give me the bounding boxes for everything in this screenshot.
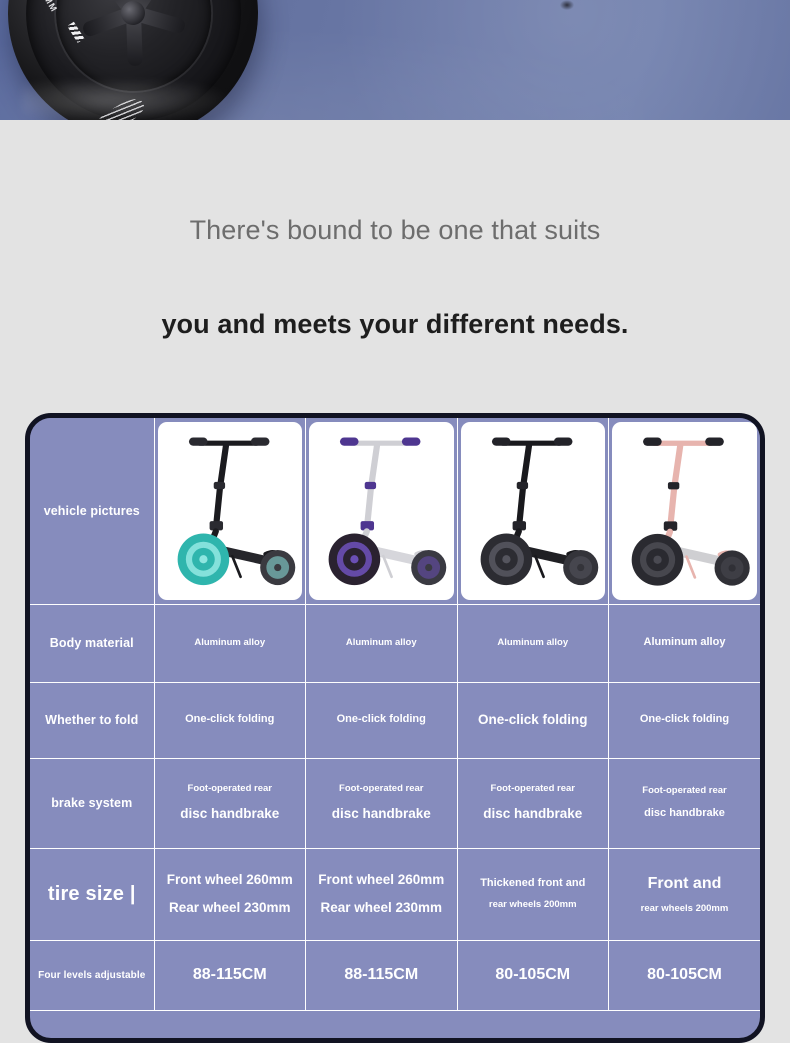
spec-text: Aluminum alloy bbox=[309, 637, 454, 650]
row-label-body-material: Body material bbox=[30, 604, 154, 682]
product-photo-cell-4 bbox=[609, 418, 761, 604]
floor-reflection bbox=[22, 82, 252, 120]
banner-speck bbox=[560, 0, 574, 10]
row-label-tire-size: tire size | bbox=[30, 848, 154, 940]
spec-text: Rear wheel 230mm bbox=[158, 898, 303, 918]
spec-text: 88-115CM bbox=[309, 963, 454, 986]
spec-cell-2: Foot-operated reardisc handbrake bbox=[306, 758, 458, 848]
product-image-2[interactable] bbox=[309, 422, 454, 600]
spec-text: Aluminum alloy bbox=[461, 637, 606, 650]
spec-text: Front and bbox=[612, 872, 757, 895]
table-row: Four levels adjustable88-115CM88-115CM80… bbox=[30, 940, 760, 1010]
spec-cell-4: Foot-operated reardisc handbrake bbox=[609, 758, 761, 848]
hero-banner: 200MM bbox=[0, 0, 790, 120]
spec-text: Rear wheel 230mm bbox=[309, 898, 454, 918]
spec-text: Aluminum alloy bbox=[612, 635, 757, 650]
row-label-four-levels-adjustable: Four levels adjustable bbox=[30, 940, 154, 1010]
section-headings: There's bound to be one that suits you a… bbox=[0, 120, 790, 341]
spec-text: 80-105CM bbox=[461, 963, 606, 986]
spec-cell-4: Front andrear wheels 200mm bbox=[609, 848, 761, 940]
spec-cell-2: Aluminum alloy bbox=[306, 604, 458, 682]
specification-comparison-table: vehicle pictures bbox=[30, 418, 760, 1011]
product-image-1[interactable] bbox=[158, 422, 303, 600]
product-image-3[interactable] bbox=[461, 422, 606, 600]
spec-text: disc handbrake bbox=[309, 804, 454, 824]
spec-text: Foot-operated rear bbox=[158, 783, 303, 796]
table-row: vehicle pictures bbox=[30, 418, 760, 604]
spec-text: One-click folding bbox=[612, 712, 757, 727]
table-row: Body materialAluminum alloyAluminum allo… bbox=[30, 604, 760, 682]
spec-cell-1: Foot-operated reardisc handbrake bbox=[154, 758, 306, 848]
product-image-4[interactable] bbox=[612, 422, 757, 600]
comparison-table-container: vehicle pictures bbox=[25, 413, 765, 1043]
spec-cell-2: Front wheel 260mmRear wheel 230mm bbox=[306, 848, 458, 940]
spec-text: 80-105CM bbox=[612, 963, 757, 986]
spec-cell-2: One-click folding bbox=[306, 682, 458, 758]
spec-text: disc handbrake bbox=[158, 804, 303, 824]
spec-cell-4: Aluminum alloy bbox=[609, 604, 761, 682]
row-label-whether-to-fold: Whether to fold bbox=[30, 682, 154, 758]
row-label-brake-system: brake system bbox=[30, 758, 154, 848]
product-photo-cell-1 bbox=[154, 418, 306, 604]
spec-cell-3: 80-105CM bbox=[457, 940, 609, 1010]
spec-text: One-click folding bbox=[461, 710, 606, 730]
spec-cell-1: 88-115CM bbox=[154, 940, 306, 1010]
spec-text: Front wheel 260mm bbox=[309, 870, 454, 890]
spec-text: Front wheel 260mm bbox=[158, 870, 303, 890]
spec-cell-3: Foot-operated reardisc handbrake bbox=[457, 758, 609, 848]
heading-line-1: There's bound to be one that suits bbox=[0, 214, 790, 246]
spec-text: rear wheels 200mm bbox=[612, 903, 757, 916]
spec-cell-4: One-click folding bbox=[609, 682, 761, 758]
spec-cell-2: 88-115CM bbox=[306, 940, 458, 1010]
table-row: brake systemFoot-operated reardisc handb… bbox=[30, 758, 760, 848]
spec-text: 88-115CM bbox=[158, 963, 303, 986]
spec-text: One-click folding bbox=[309, 712, 454, 727]
spec-text: Aluminum alloy bbox=[158, 637, 303, 650]
spec-text: One-click folding bbox=[158, 712, 303, 727]
product-photo-cell-3 bbox=[457, 418, 609, 604]
table-row: tire size |Front wheel 260mmRear wheel 2… bbox=[30, 848, 760, 940]
product-photo-cell-2 bbox=[306, 418, 458, 604]
spec-text: Foot-operated rear bbox=[461, 783, 606, 796]
spec-cell-4: 80-105CM bbox=[609, 940, 761, 1010]
spec-cell-1: Front wheel 260mmRear wheel 230mm bbox=[154, 848, 306, 940]
spec-text: rear wheels 200mm bbox=[461, 899, 606, 912]
spec-text: disc handbrake bbox=[612, 806, 757, 821]
spec-text: Thickened front and bbox=[461, 876, 606, 891]
spec-text: disc handbrake bbox=[461, 804, 606, 824]
spec-cell-1: Aluminum alloy bbox=[154, 604, 306, 682]
table-row: Whether to foldOne-click foldingOne-clic… bbox=[30, 682, 760, 758]
spec-cell-1: One-click folding bbox=[154, 682, 306, 758]
row-label-vehicle-pictures: vehicle pictures bbox=[30, 418, 154, 604]
heading-line-2: you and meets your different needs. bbox=[0, 308, 790, 340]
spec-text: Foot-operated rear bbox=[309, 783, 454, 796]
spec-cell-3: Aluminum alloy bbox=[457, 604, 609, 682]
spec-cell-3: Thickened front andrear wheels 200mm bbox=[457, 848, 609, 940]
spec-cell-3: One-click folding bbox=[457, 682, 609, 758]
spec-text: Foot-operated rear bbox=[612, 785, 757, 798]
